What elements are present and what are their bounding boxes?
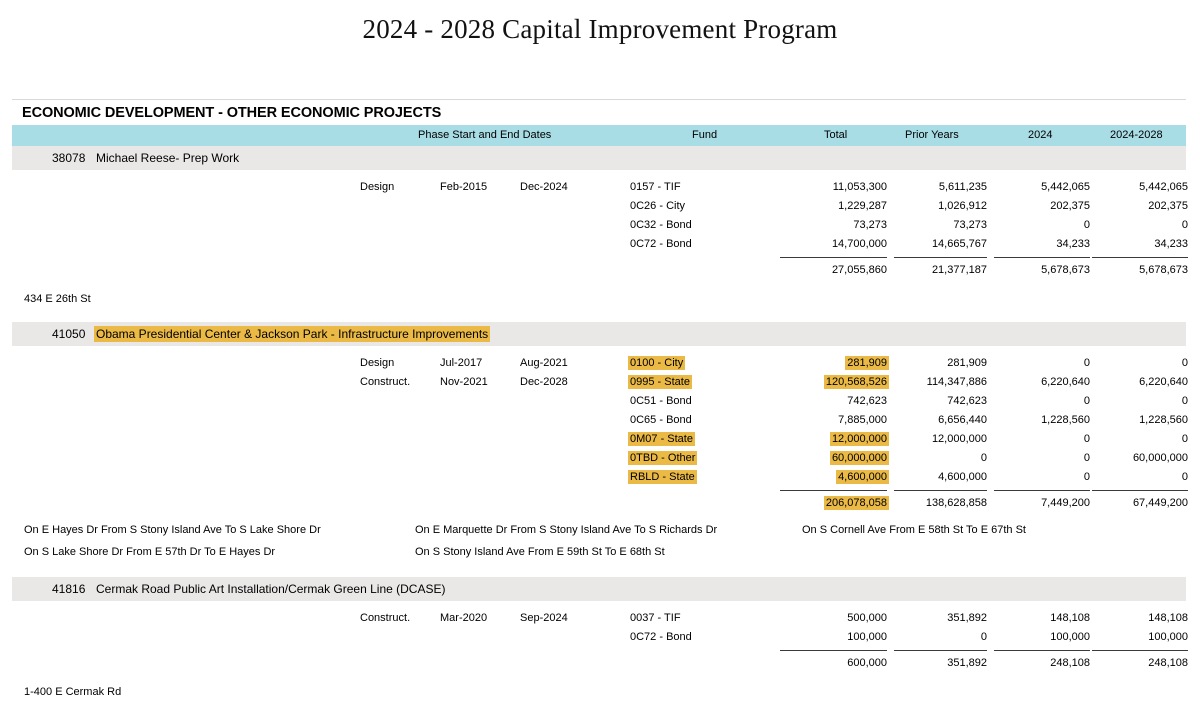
- column-header-prior-years: Prior Years: [905, 129, 959, 141]
- fund-2024-2028: 60,000,000: [1070, 452, 1188, 464]
- phase-name: Construct.: [360, 612, 410, 624]
- highlight-marker: 0M07 - State: [628, 432, 695, 446]
- fund-code: 0995 - State: [630, 376, 690, 388]
- fund-2024-2028: 0: [1070, 219, 1188, 231]
- location-line: On S Lake Shore Dr From E 57th Dr To E H…: [12, 543, 1186, 565]
- project-name: Cermak Road Public Art Installation/Cerm…: [96, 582, 445, 596]
- subtotal-rules: [12, 487, 1186, 494]
- table-row: 0C26 - City1,229,2871,026,912202,375202,…: [12, 197, 1186, 216]
- column-header-total: Total: [824, 129, 847, 141]
- subtotal-underline: [780, 650, 887, 651]
- subtotal-prior-years: 138,628,858: [867, 497, 987, 509]
- fund-2024-2028: 0: [1070, 357, 1188, 369]
- fund-code: 0037 - TIF: [630, 612, 681, 624]
- project-address: 434 E 26th St: [12, 288, 1186, 310]
- project-header-row[interactable]: 38078Michael Reese- Prep Work: [12, 146, 1186, 170]
- subtotal-row: 600,000351,892248,108248,108: [12, 654, 1186, 673]
- subtotal-prior-years: 21,377,187: [867, 264, 987, 276]
- subtotal-rules: [12, 254, 1186, 261]
- project-header-row[interactable]: 41816Cermak Road Public Art Installation…: [12, 577, 1186, 601]
- page-title: 2024 - 2028 Capital Improvement Program: [0, 0, 1200, 45]
- subtotal-underline: [894, 650, 987, 651]
- fund-prior-years: 14,665,767: [867, 238, 987, 250]
- column-header-2024: 2024: [1028, 129, 1052, 141]
- table-row: 0M07 - State12,000,00012,000,00000: [12, 430, 1186, 449]
- fund-prior-years: 12,000,000: [867, 433, 987, 445]
- fund-prior-years: 351,892: [867, 612, 987, 624]
- table-row: Construct.Nov-2021Dec-20280995 - State12…: [12, 373, 1186, 392]
- subtotal-underline: [1092, 257, 1188, 258]
- table-row: 0C32 - Bond73,27373,27300: [12, 216, 1186, 235]
- subtotal-underline: [780, 257, 887, 258]
- subtotal-underline: [994, 257, 1090, 258]
- phase-start: Mar-2020: [440, 612, 487, 624]
- fund-code: 0TBD - Other: [630, 452, 695, 464]
- project-number: 38078: [52, 151, 85, 165]
- phase-start: Jul-2017: [440, 357, 482, 369]
- subtotal-underline: [1092, 650, 1188, 651]
- subtotal-underline: [780, 490, 887, 491]
- fund-2024-2028: 100,000: [1070, 631, 1188, 643]
- table-row: 0TBD - Other60,000,0000060,000,000: [12, 449, 1186, 468]
- table-row: 0C72 - Bond100,0000100,000100,000: [12, 628, 1186, 647]
- table-row: 0C72 - Bond14,700,00014,665,76734,23334,…: [12, 235, 1186, 254]
- subtotal-2024-2028: 248,108: [1070, 657, 1188, 669]
- fund-code: 0157 - TIF: [630, 181, 681, 193]
- location-text: On S Cornell Ave From E 58th St To E 67t…: [802, 524, 1026, 536]
- highlight-marker: RBLD - State: [628, 470, 697, 484]
- highlight-marker: 0995 - State: [628, 375, 692, 389]
- fund-prior-years: 0: [867, 631, 987, 643]
- project-gap: [12, 565, 1186, 577]
- phase-name: Design: [360, 357, 394, 369]
- highlight-marker: 0100 - City: [628, 356, 685, 370]
- table-row: DesignFeb-2015Dec-20240157 - TIF11,053,3…: [12, 178, 1186, 197]
- fund-2024-2028: 202,375: [1070, 200, 1188, 212]
- column-header-2024-2028: 2024-2028: [1110, 129, 1163, 141]
- subtotal-2024-2028: 5,678,673: [1070, 264, 1188, 276]
- fund-2024-2028: 1,228,560: [1070, 414, 1188, 426]
- band-gap: [12, 601, 1186, 609]
- subtotal-underline: [994, 650, 1090, 651]
- capital-program-table: ECONOMIC DEVELOPMENT - OTHER ECONOMIC PR…: [12, 99, 1186, 703]
- subtotal-underline: [894, 490, 987, 491]
- column-header-fund: Fund: [692, 129, 717, 141]
- phase-end: Dec-2024: [520, 181, 568, 193]
- fund-code: 0C32 - Bond: [630, 219, 692, 231]
- fund-prior-years: 6,656,440: [867, 414, 987, 426]
- fund-code: 0M07 - State: [630, 433, 693, 445]
- fund-code: 0C65 - Bond: [630, 414, 692, 426]
- column-header-phase-dates: Phase Start and End Dates: [418, 129, 551, 141]
- subtotal-2024-2028: 67,449,200: [1070, 497, 1188, 509]
- phase-start: Nov-2021: [440, 376, 488, 388]
- subtotal-underline: [994, 490, 1090, 491]
- fund-code: 0C72 - Bond: [630, 238, 692, 250]
- fund-code: 0C51 - Bond: [630, 395, 692, 407]
- fund-prior-years: 73,273: [867, 219, 987, 231]
- address-gap: [12, 673, 1186, 681]
- subtotal-row: 27,055,86021,377,1875,678,6735,678,673: [12, 261, 1186, 280]
- fund-prior-years: 5,611,235: [867, 181, 987, 193]
- project-name: Obama Presidential Center & Jackson Park…: [96, 327, 488, 341]
- phase-end: Sep-2024: [520, 612, 568, 624]
- location-text: On S Stony Island Ave From E 59th St To …: [415, 546, 665, 558]
- subtotal-row: 206,078,058138,628,8587,449,20067,449,20…: [12, 494, 1186, 513]
- subtotal-underline: [1092, 490, 1188, 491]
- fund-prior-years: 4,600,000: [867, 471, 987, 483]
- fund-prior-years: 1,026,912: [867, 200, 987, 212]
- table-column-headers: Phase Start and End Dates Fund Total Pri…: [12, 125, 1186, 146]
- fund-2024-2028: 0: [1070, 433, 1188, 445]
- highlight-marker: 0TBD - Other: [628, 451, 697, 465]
- locations-block: On E Hayes Dr From S Stony Island Ave To…: [12, 521, 1186, 565]
- location-line: On E Hayes Dr From S Stony Island Ave To…: [12, 521, 1186, 543]
- subtotal-prior-years: 351,892: [867, 657, 987, 669]
- fund-2024-2028: 6,220,640: [1070, 376, 1188, 388]
- location-text: On E Hayes Dr From S Stony Island Ave To…: [24, 524, 321, 536]
- table-row: Construct.Mar-2020Sep-20240037 - TIF500,…: [12, 609, 1186, 628]
- fund-2024-2028: 0: [1070, 395, 1188, 407]
- project-number: 41050: [52, 327, 85, 341]
- fund-2024-2028: 5,442,065: [1070, 181, 1188, 193]
- table-row: 0C51 - Bond742,623742,62300: [12, 392, 1186, 411]
- location-text: On S Lake Shore Dr From E 57th Dr To E H…: [24, 546, 275, 558]
- phase-end: Aug-2021: [520, 357, 568, 369]
- phase-name: Design: [360, 181, 394, 193]
- section-heading: ECONOMIC DEVELOPMENT - OTHER ECONOMIC PR…: [12, 100, 1186, 125]
- highlight-marker: Obama Presidential Center & Jackson Park…: [94, 326, 490, 342]
- fund-prior-years: 114,347,886: [867, 376, 987, 388]
- fund-prior-years: 0: [867, 452, 987, 464]
- fund-code: 0C26 - City: [630, 200, 685, 212]
- fund-code: 0C72 - Bond: [630, 631, 692, 643]
- phase-name: Construct.: [360, 376, 410, 388]
- subtotal-underline: [894, 257, 987, 258]
- fund-2024-2028: 0: [1070, 471, 1188, 483]
- fund-code: RBLD - State: [630, 471, 695, 483]
- phase-end: Dec-2028: [520, 376, 568, 388]
- fund-code: 0100 - City: [630, 357, 683, 369]
- fund-2024-2028: 148,108: [1070, 612, 1188, 624]
- table-row: 0C65 - Bond7,885,0006,656,4401,228,5601,…: [12, 411, 1186, 430]
- project-name: Michael Reese- Prep Work: [96, 151, 239, 165]
- address-gap: [12, 280, 1186, 288]
- project-number: 41816: [52, 582, 85, 596]
- table-row: DesignJul-2017Aug-20210100 - City281,909…: [12, 354, 1186, 373]
- fund-2024-2028: 34,233: [1070, 238, 1188, 250]
- fund-prior-years: 281,909: [867, 357, 987, 369]
- location-text: On E Marquette Dr From S Stony Island Av…: [415, 524, 717, 536]
- band-gap: [12, 170, 1186, 178]
- subtotal-rules: [12, 647, 1186, 654]
- phase-start: Feb-2015: [440, 181, 487, 193]
- project-address: 1-400 E Cermak Rd: [12, 681, 1186, 703]
- project-header-row[interactable]: 41050Obama Presidential Center & Jackson…: [12, 322, 1186, 346]
- band-gap: [12, 346, 1186, 354]
- project-gap: [12, 310, 1186, 322]
- table-row: RBLD - State4,600,0004,600,00000: [12, 468, 1186, 487]
- fund-prior-years: 742,623: [867, 395, 987, 407]
- locations-gap: [12, 513, 1186, 521]
- projects-container: 38078Michael Reese- Prep WorkDesignFeb-2…: [12, 146, 1186, 703]
- document-page: 2024 - 2028 Capital Improvement Program …: [0, 0, 1200, 675]
